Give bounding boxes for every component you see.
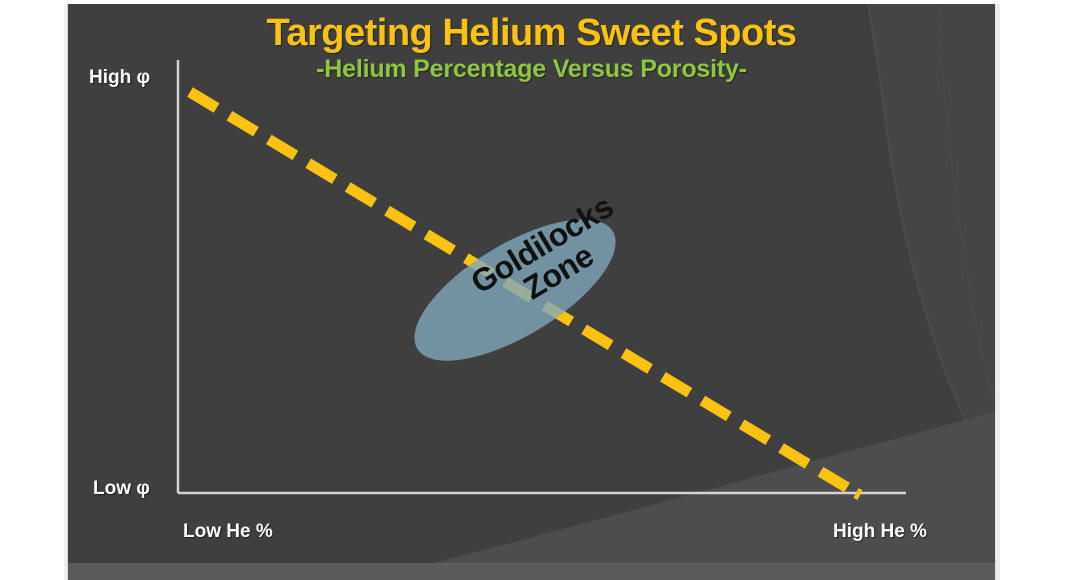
y-axis-low-label: Low φ (93, 478, 150, 500)
slide-gutter-right (995, 4, 1000, 580)
y-axis-high-label: High φ (89, 67, 150, 89)
presentation-slide: Targeting Helium Sweet Spots -Helium Per… (68, 4, 995, 580)
goldilocks-zone-ellipse (394, 192, 637, 388)
slide-page: Targeting Helium Sweet Spots -Helium Per… (0, 0, 1068, 580)
zone-ellipse-shape (394, 192, 637, 388)
chart-plot-area (68, 4, 995, 580)
x-axis-low-label: Low He % (183, 521, 273, 543)
trend-line-end-cap (856, 493, 860, 495)
x-axis-high-label: High He % (833, 521, 927, 543)
